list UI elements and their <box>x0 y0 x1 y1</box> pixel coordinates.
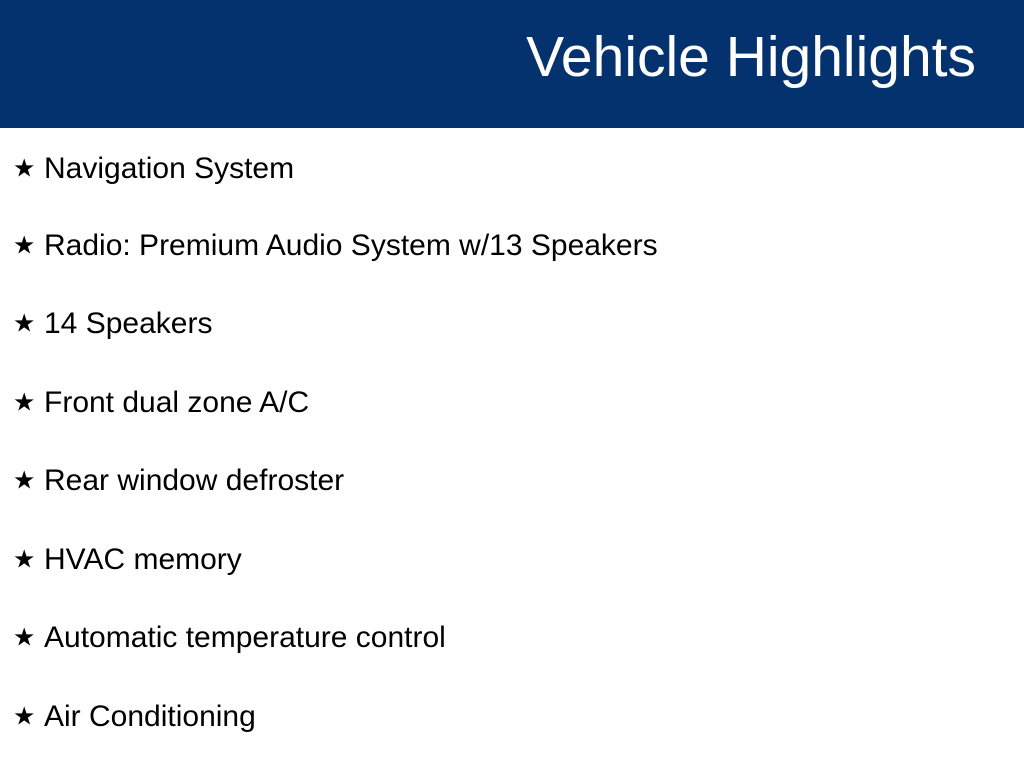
list-item: ★ Front dual zone A/C <box>0 364 1024 443</box>
vehicle-highlights-list: ★ Navigation System ★ Radio: Premium Aud… <box>0 128 1024 756</box>
list-item: ★ Rear window defroster <box>0 442 1024 521</box>
star-bullet-icon: ★ <box>13 469 35 494</box>
list-item: ★ HVAC memory <box>0 521 1024 600</box>
star-bullet-icon: ★ <box>13 547 35 572</box>
list-item-label: HVAC memory <box>44 542 242 578</box>
list-item-label: Air Conditioning <box>44 699 256 735</box>
list-item-label: Navigation System <box>44 151 294 187</box>
star-bullet-icon: ★ <box>13 312 35 337</box>
list-item-label: Radio: Premium Audio System w/13 Speaker… <box>44 228 658 264</box>
star-bullet-icon: ★ <box>13 626 35 651</box>
list-item: ★ Air Conditioning <box>0 678 1024 757</box>
list-item: ★ Radio: Premium Audio System w/13 Speak… <box>0 207 1024 286</box>
vehicle-highlights-slide: Vehicle Highlights ★ Navigation System ★… <box>0 0 1024 768</box>
list-item-label: Rear window defroster <box>44 463 344 499</box>
list-item: ★ Navigation System <box>0 128 1024 207</box>
star-bullet-icon: ★ <box>13 704 35 729</box>
star-bullet-icon: ★ <box>13 233 35 258</box>
list-item: ★ 14 Speakers <box>0 285 1024 364</box>
page-title: Vehicle Highlights <box>526 26 976 90</box>
list-item-label: Front dual zone A/C <box>44 385 309 421</box>
list-item-label: 14 Speakers <box>44 306 212 342</box>
star-bullet-icon: ★ <box>13 390 35 415</box>
list-item: ★ Automatic temperature control <box>0 599 1024 678</box>
slide-header-band: Vehicle Highlights <box>0 0 1024 128</box>
list-item-label: Automatic temperature control <box>44 620 446 656</box>
star-bullet-icon: ★ <box>13 157 35 182</box>
